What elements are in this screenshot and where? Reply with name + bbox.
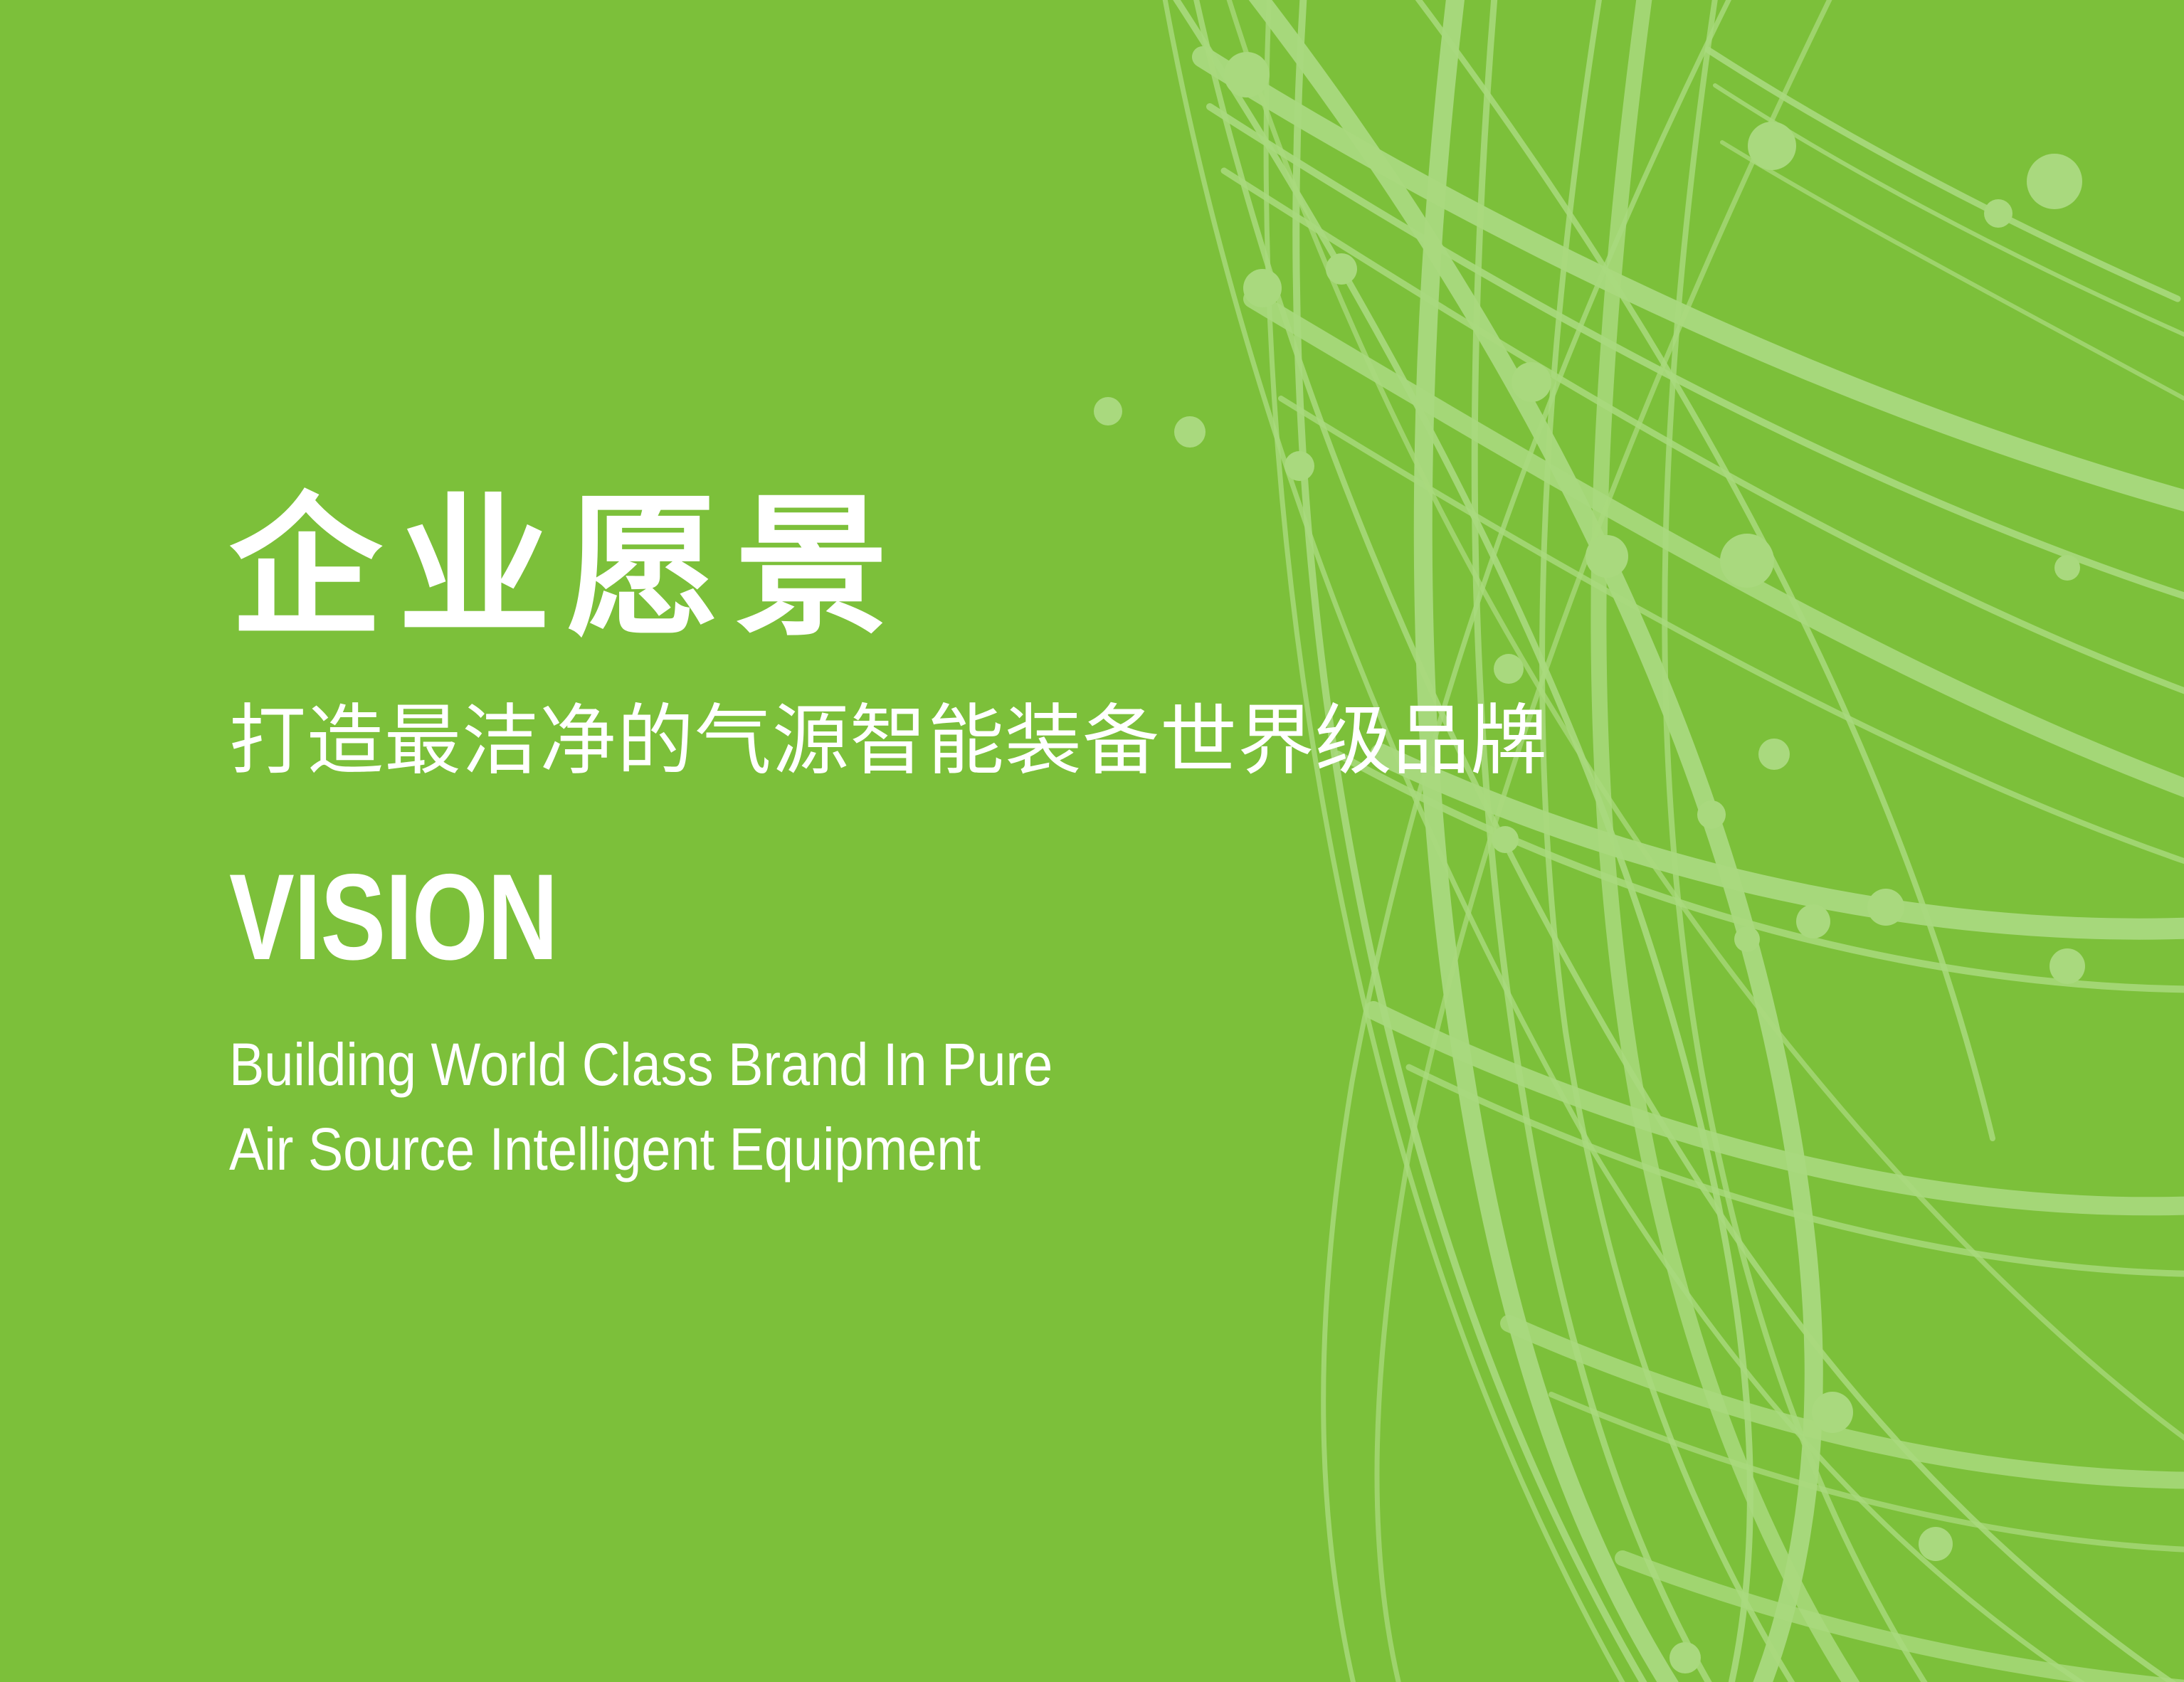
- globe-scatter-dot: [1094, 397, 1122, 425]
- vision-content-block: 企业愿景 打造最洁净的气源智能装备世界级品牌 VISION Building W…: [229, 491, 1937, 1192]
- page-title-english: VISION: [229, 856, 1595, 978]
- globe-scatter-dot: [1284, 451, 1314, 481]
- globe-node-dot: [1512, 362, 1551, 402]
- globe-node-dot: [1224, 52, 1270, 97]
- page-body-english: Building World Class Brand In Pure Air S…: [229, 1022, 1732, 1192]
- globe-node-dot: [2050, 948, 2085, 984]
- body-line-2: Air Source Intelligent Equipment: [229, 1107, 1732, 1192]
- vision-slide: 企业愿景 打造最洁净的气源智能装备世界级品牌 VISION Building W…: [0, 0, 2184, 1682]
- globe-node-dot: [1748, 122, 1796, 170]
- globe-node-dot: [1812, 1392, 1853, 1433]
- page-subtitle-chinese: 打造最洁净的气源智能装备世界级品牌: [229, 702, 1937, 779]
- globe-node-dot: [2027, 154, 2082, 209]
- globe-node-dot: [1919, 1527, 1953, 1561]
- globe-node-dot: [1243, 269, 1282, 307]
- globe-node-dot: [1326, 253, 1357, 285]
- globe-scatter-dot: [1174, 416, 1206, 448]
- globe-node-dot: [1984, 199, 2012, 228]
- body-line-1: Building World Class Brand In Pure: [229, 1022, 1732, 1107]
- globe-node-dot: [1669, 1642, 1701, 1673]
- globe-scatter-dot: [2054, 555, 2080, 581]
- page-title-chinese: 企业愿景: [229, 491, 1937, 644]
